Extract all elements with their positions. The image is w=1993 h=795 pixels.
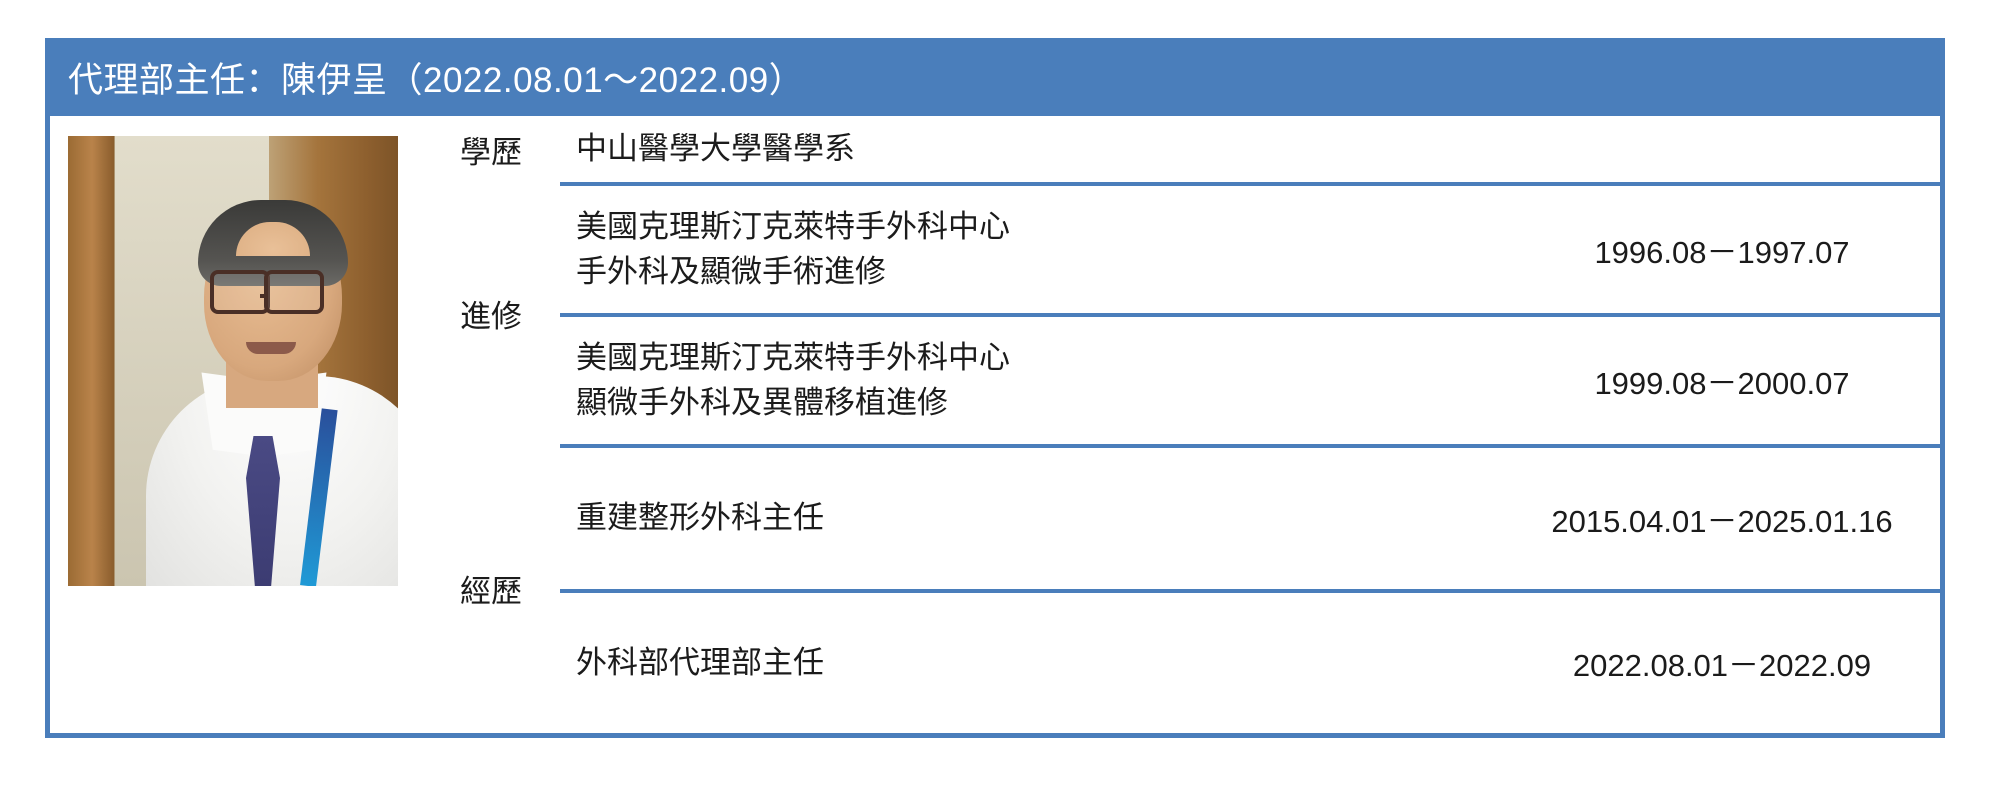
entry-line1: 外科部代理部主任 (576, 645, 824, 680)
entry-text: 重建整形外科主任 (560, 496, 1510, 540)
photo-eyeglass-bridge (260, 294, 268, 298)
table-row-career: 經歷 重建整形外科主任 2015.04.01－2025.01.16 外科部代理部… (422, 444, 1940, 733)
row-entries-training: 美國克理斯汀克萊特手外科中心 手外科及顯微手術進修 1996.08－1997.0… (560, 182, 1940, 444)
portrait-photo (68, 136, 398, 586)
row-label-training: 進修 (422, 182, 560, 444)
card-header: 代理部主任：陳伊呈（2022.08.01～2022.09） (50, 38, 1940, 116)
entry-line1: 美國克理斯汀克萊特手外科中心 (576, 340, 1010, 375)
row-entries-career: 重建整形外科主任 2015.04.01－2025.01.16 外科部代理部主任 … (560, 444, 1940, 733)
entry-text: 美國克理斯汀克萊特手外科中心 顯微手外科及異體移植進修 (560, 336, 1510, 424)
entry-text: 美國克理斯汀克萊特手外科中心 手外科及顯微手術進修 (560, 205, 1510, 293)
row-label-career: 經歷 (422, 444, 560, 733)
table-row: 外科部代理部主任 2022.08.01－2022.09 (560, 589, 1940, 734)
table-row-education: 學歷 中山醫學大學醫學系 (422, 116, 1940, 182)
photo-eyeglass-left (210, 270, 270, 314)
row-entries-education: 中山醫學大學醫學系 (560, 116, 1940, 182)
table-row-training: 進修 美國克理斯汀克萊特手外科中心 手外科及顯微手術進修 1996.08－199… (422, 182, 1940, 444)
table-row: 重建整形外科主任 2015.04.01－2025.01.16 (560, 444, 1940, 589)
entry-date: 2022.08.01－2022.09 (1510, 640, 1940, 685)
card-body: 學歷 中山醫學大學醫學系 進修 美國克理斯汀克萊特手外科中心 (50, 116, 1940, 733)
profile-card: 代理部主任：陳伊呈（2022.08.01～2022.09） (45, 38, 1945, 738)
entry-text: 外科部代理部主任 (560, 641, 1510, 685)
entry-line1: 美國克理斯汀克萊特手外科中心 (576, 209, 1010, 244)
cv-table: 學歷 中山醫學大學醫學系 進修 美國克理斯汀克萊特手外科中心 (422, 116, 1940, 733)
photo-eyeglass-right (264, 270, 324, 314)
photo-mouth (246, 342, 296, 354)
entry-line1: 中山醫學大學醫學系 (576, 131, 855, 166)
entry-text: 中山醫學大學醫學系 (560, 127, 1510, 171)
entry-date: 1999.08－2000.07 (1510, 358, 1940, 403)
entry-line2: 顯微手外科及異體移植進修 (576, 381, 1510, 425)
table-row: 美國克理斯汀克萊特手外科中心 顯微手外科及異體移植進修 1999.08－2000… (560, 313, 1940, 444)
entry-line2: 手外科及顯微手術進修 (576, 250, 1510, 294)
entry-line1: 重建整形外科主任 (576, 500, 824, 535)
photo-column (50, 116, 422, 733)
row-label-education: 學歷 (422, 116, 560, 182)
table-row: 中山醫學大學醫學系 (560, 116, 1940, 182)
entry-date: 1996.08－1997.07 (1510, 227, 1940, 272)
entry-date: 2015.04.01－2025.01.16 (1510, 496, 1940, 541)
page-title: 代理部主任：陳伊呈（2022.08.01～2022.09） (68, 52, 804, 103)
table-row: 美國克理斯汀克萊特手外科中心 手外科及顯微手術進修 1996.08－1997.0… (560, 182, 1940, 313)
